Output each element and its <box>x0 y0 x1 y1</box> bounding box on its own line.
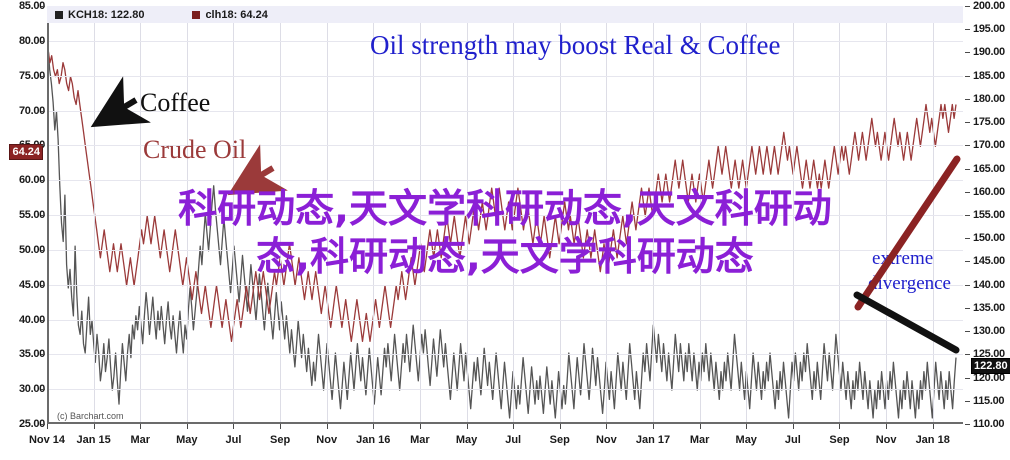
right-axis-tick-150-00: 150.00 <box>973 232 1005 244</box>
right-axis-tick-mark <box>965 29 970 30</box>
left-axis-tick-mark <box>41 285 45 286</box>
legend-label-kch18: KCH18: 122.80 <box>68 9 144 21</box>
x-axis-tick-may: May <box>456 434 477 446</box>
x-axis-tick-mark <box>373 424 374 429</box>
x-axis-tick-jan-17: Jan 17 <box>636 434 670 446</box>
left-axis-tick-25-00: 25.00 <box>5 418 45 430</box>
right-axis-tick-mark <box>965 331 970 332</box>
right-axis-tick-110-00: 110.00 <box>973 418 1004 430</box>
right-axis-tick-mark <box>965 169 970 170</box>
right-axis-tick-mark <box>965 145 970 146</box>
left-axis-tick-55-00: 55.00 <box>5 209 45 221</box>
right-axis-tick-mark <box>965 122 970 123</box>
x-axis-tick-mark <box>700 424 701 429</box>
x-axis-tick-mark <box>933 424 934 429</box>
x-axis-tick-mark <box>280 424 281 429</box>
x-axis-tick-mark <box>47 424 48 429</box>
x-axis-tick-mar: Mar <box>690 434 710 446</box>
right-axis-tick-155-00: 155.00 <box>973 209 1005 221</box>
x-axis-tick-mark <box>94 424 95 429</box>
right-axis-tick-mark <box>965 6 970 7</box>
right-axis-tick-mark <box>965 76 970 77</box>
x-axis-tick-nov: Nov <box>596 434 617 446</box>
left-axis-tick-mark <box>41 250 45 251</box>
left-axis-tick-mark <box>41 320 45 321</box>
left-axis-tick-60-00: 60.00 <box>5 174 45 186</box>
x-axis-tick-jul: Jul <box>505 434 521 446</box>
right-axis-tick-mark <box>965 192 970 193</box>
left-axis-tick-mark <box>41 111 45 112</box>
x-axis-tick-mark <box>793 424 794 429</box>
horizontal-gridline <box>47 215 963 216</box>
x-axis-tick-jan-15: Jan 15 <box>76 434 110 446</box>
x-axis-tick-jul: Jul <box>785 434 801 446</box>
annotation-crude-oil-label: Crude Oil <box>143 135 246 165</box>
x-axis-tick-mark <box>187 424 188 429</box>
series-legend[interactable]: KCH18: 122.80 clh18: 64.24 <box>47 6 963 23</box>
right-axis-tick-mark <box>965 261 970 262</box>
x-axis-tick-mark <box>233 424 234 429</box>
left-axis-tick-45-00: 45.00 <box>5 279 45 291</box>
left-axis-tick-80-00: 80.00 <box>5 35 45 47</box>
x-axis-tick-nov: Nov <box>876 434 897 446</box>
copyright-notice: (c) Barchart.com <box>57 411 124 421</box>
x-axis-tick-nov-14: Nov 14 <box>29 434 65 446</box>
chart-screenshot: 85.0080.0075.0070.0065.0060.0055.0050.00… <box>0 0 1010 460</box>
right-axis-tick-145-00: 145.00 <box>973 255 1005 267</box>
right-axis-tick-160-00: 160.00 <box>973 186 1005 198</box>
left-axis-tick-mark <box>41 389 45 390</box>
right-axis-tick-140-00: 140.00 <box>973 279 1005 291</box>
right-axis-tick-mark <box>965 285 970 286</box>
x-axis-tick-mar: Mar <box>410 434 430 446</box>
left-axis-tick-50-00: 50.00 <box>5 244 45 256</box>
right-axis-tick-mark <box>965 308 970 309</box>
left-axis-tick-mark <box>41 145 45 146</box>
right-axis-tick-mark <box>965 354 970 355</box>
x-axis-tick-mark <box>420 424 421 429</box>
legend-item-clh18[interactable]: clh18: 64.24 <box>192 9 267 21</box>
plot-area[interactable] <box>47 6 963 424</box>
horizontal-gridline <box>47 285 963 286</box>
left-axis-tick-40-00: 40.00 <box>5 314 45 326</box>
right-axis-tick-mark <box>965 99 970 100</box>
annotation-divergence-label: divergence <box>868 273 951 295</box>
right-axis-tick-115-00: 115.00 <box>973 395 1004 407</box>
right-axis-tick-mark <box>965 424 970 425</box>
x-axis-tick-mark <box>653 424 654 429</box>
legend-swatch-clh18 <box>192 11 200 19</box>
x-axis-tick-sep: Sep <box>270 434 290 446</box>
left-axis-tick-mark <box>41 424 45 425</box>
left-axis-tick-35-00: 35.00 <box>5 348 45 360</box>
left-axis-tick-mark <box>41 41 45 42</box>
horizontal-gridline <box>47 76 963 77</box>
x-axis-tick-mark <box>140 424 141 429</box>
left-axis-tick-70-00: 70.00 <box>5 105 45 117</box>
horizontal-gridline <box>47 250 963 251</box>
chart-title: Oil strength may boost Real & Coffee <box>370 30 780 61</box>
right-axis-tick-175-00: 175.00 <box>973 116 1005 128</box>
x-axis-tick-sep: Sep <box>550 434 570 446</box>
right-axis-tick-mark <box>965 52 970 53</box>
horizontal-gridline <box>47 354 963 355</box>
horizontal-gridline <box>47 180 963 181</box>
annotation-coffee-label: Coffee <box>140 88 210 118</box>
horizontal-gridline <box>47 320 963 321</box>
right-axis-tick-130-00: 130.00 <box>973 325 1005 337</box>
x-axis-tick-mark <box>606 424 607 429</box>
horizontal-gridline <box>47 389 963 390</box>
x-axis-tick-sep: Sep <box>829 434 849 446</box>
legend-label-clh18: clh18: 64.24 <box>205 9 267 21</box>
right-value-axis: 200.00195.00190.00185.00180.00175.00170.… <box>963 0 1010 460</box>
left-axis-tick-mark <box>41 180 45 181</box>
legend-swatch-kch18 <box>55 11 63 19</box>
x-axis-tick-mark <box>560 424 561 429</box>
left-axis-tick-30-00: 30.00 <box>5 383 45 395</box>
right-axis-tick-mark <box>965 378 970 379</box>
x-axis-tick-may: May <box>736 434 757 446</box>
x-axis-tick-mark <box>886 424 887 429</box>
x-axis-tick-mark <box>839 424 840 429</box>
right-axis-tick-165-00: 165.00 <box>973 163 1005 175</box>
right-axis-tick-135-00: 135.00 <box>973 302 1005 314</box>
right-axis-tick-190-00: 190.00 <box>973 46 1005 58</box>
right-axis-tick-mark <box>965 238 970 239</box>
x-axis-tick-jan-18: Jan 18 <box>916 434 950 446</box>
right-axis-tick-185-00: 185.00 <box>973 70 1005 82</box>
x-axis-tick-jul: Jul <box>226 434 242 446</box>
left-axis-last-price-badge: 64.24 <box>9 144 43 160</box>
annotation-extreme-label: extreme <box>872 248 933 270</box>
left-axis-tick-85-00: 85.00 <box>5 0 45 12</box>
right-axis-tick-180-00: 180.00 <box>973 93 1005 105</box>
left-axis-tick-mark <box>41 6 45 7</box>
x-axis-tick-jan-16: Jan 16 <box>356 434 390 446</box>
x-axis-tick-mark <box>327 424 328 429</box>
right-axis-tick-195-00: 195.00 <box>973 23 1005 35</box>
right-axis-tick-mark <box>965 215 970 216</box>
left-axis-tick-75-00: 75.00 <box>5 70 45 82</box>
x-axis-tick-nov: Nov <box>316 434 337 446</box>
x-axis-tick-mark <box>746 424 747 429</box>
right-axis-tick-170-00: 170.00 <box>973 139 1005 151</box>
x-axis-tick-may: May <box>176 434 197 446</box>
x-axis-tick-mar: Mar <box>130 434 150 446</box>
x-axis-tick-mark <box>467 424 468 429</box>
left-axis-tick-mark <box>41 76 45 77</box>
right-axis-tick-mark <box>965 401 970 402</box>
left-axis-tick-mark <box>41 354 45 355</box>
left-axis-tick-mark <box>41 215 45 216</box>
right-axis-last-price-badge: 122.80 <box>971 358 1010 374</box>
left-value-axis: 85.0080.0075.0070.0065.0060.0055.0050.00… <box>0 0 45 460</box>
right-axis-tick-200-00: 200.00 <box>973 0 1005 12</box>
x-axis-tick-mark <box>513 424 514 429</box>
legend-item-kch18[interactable]: KCH18: 122.80 <box>55 9 144 21</box>
